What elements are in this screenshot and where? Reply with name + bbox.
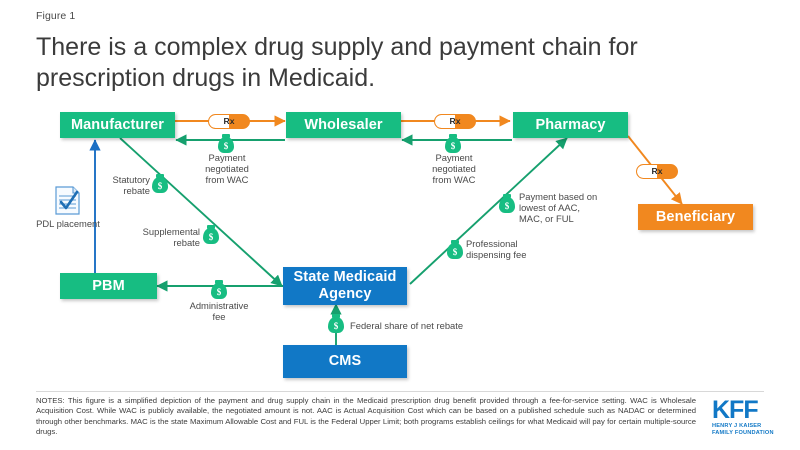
money-bag-icon: $ — [152, 174, 168, 193]
rx-icon-label: Rx — [435, 117, 475, 126]
node-label-wholesaler: Wholesaler — [304, 117, 382, 134]
node-pharmacy[interactable]: Pharmacy — [513, 112, 628, 138]
rx-icon-label: Rx — [637, 167, 677, 176]
document-check-icon — [54, 186, 81, 216]
rx-icon-label: Rx — [209, 117, 249, 126]
kff-logo-line1: HENRY J KAISER — [712, 423, 784, 430]
money-bag-icon: $ — [211, 280, 227, 299]
rx-icon: Rx — [208, 114, 250, 129]
page-title: There is a complex drug supply and payme… — [36, 32, 736, 94]
node-label-state-medicaid-agency: State Medicaid Agency — [283, 269, 407, 303]
figure-root: Figure 1 There is a complex drug supply … — [0, 0, 800, 450]
node-label-pharmacy: Pharmacy — [535, 117, 605, 134]
figure-number: Figure 1 — [36, 10, 75, 22]
node-label-cms: CMS — [329, 353, 362, 370]
edge-label-professional-fee: Professional dispensing fee — [466, 238, 558, 260]
money-bag-symbol: $ — [499, 197, 515, 213]
money-bag-symbol: $ — [203, 228, 219, 244]
money-bag-symbol: $ — [328, 317, 344, 333]
money-bag-icon: $ — [499, 194, 515, 213]
node-beneficiary[interactable]: Beneficiary — [638, 204, 753, 230]
edge-label-payment-lowest: Payment based on lowest of AAC, MAC, or … — [519, 191, 619, 224]
money-bag-symbol: $ — [211, 283, 227, 299]
money-bag-icon: $ — [445, 134, 461, 153]
kff-logo-mark: KFF — [712, 398, 784, 423]
edge-label-statutory-rebate: Statutory rebate — [72, 174, 150, 196]
edge-label-administrative-fee: Administrative fee — [178, 300, 260, 322]
footer-divider — [36, 391, 764, 392]
edge-label-supplemental-rebate: Supplemental rebate — [110, 226, 200, 248]
node-pbm[interactable]: PBM — [60, 273, 157, 299]
money-bag-symbol: $ — [152, 177, 168, 193]
money-bag-symbol: $ — [218, 137, 234, 153]
money-bag-icon: $ — [218, 134, 234, 153]
pdl-placement-label: PDL placement — [30, 218, 106, 229]
notes-text: NOTES: This figure is a simplified depic… — [36, 396, 696, 438]
kff-logo: KFF HENRY J KAISER FAMILY FOUNDATION — [712, 398, 784, 437]
node-cms[interactable]: CMS — [283, 345, 407, 378]
money-bag-icon: $ — [328, 314, 344, 333]
rx-icon: Rx — [434, 114, 476, 129]
supply-chain-diagram: Manufacturer Wholesaler Pharmacy Benefic… — [0, 108, 800, 388]
node-manufacturer[interactable]: Manufacturer — [60, 112, 175, 138]
money-bag-symbol: $ — [447, 243, 463, 259]
money-bag-icon: $ — [203, 225, 219, 244]
money-bag-symbol: $ — [445, 137, 461, 153]
node-wholesaler[interactable]: Wholesaler — [286, 112, 401, 138]
edge-label-payment-wac-2: Payment negotiated from WAC — [413, 152, 495, 185]
kff-logo-line2: FAMILY FOUNDATION — [712, 430, 784, 437]
edge-label-federal-share: Federal share of net rebate — [350, 320, 520, 331]
money-bag-icon: $ — [447, 240, 463, 259]
node-label-pbm: PBM — [92, 278, 125, 295]
edge-label-payment-wac-1: Payment negotiated from WAC — [186, 152, 268, 185]
node-state-medicaid-agency[interactable]: State Medicaid Agency — [283, 267, 407, 305]
rx-icon: Rx — [636, 164, 678, 179]
node-label-beneficiary: Beneficiary — [656, 209, 735, 226]
node-label-manufacturer: Manufacturer — [71, 117, 164, 134]
